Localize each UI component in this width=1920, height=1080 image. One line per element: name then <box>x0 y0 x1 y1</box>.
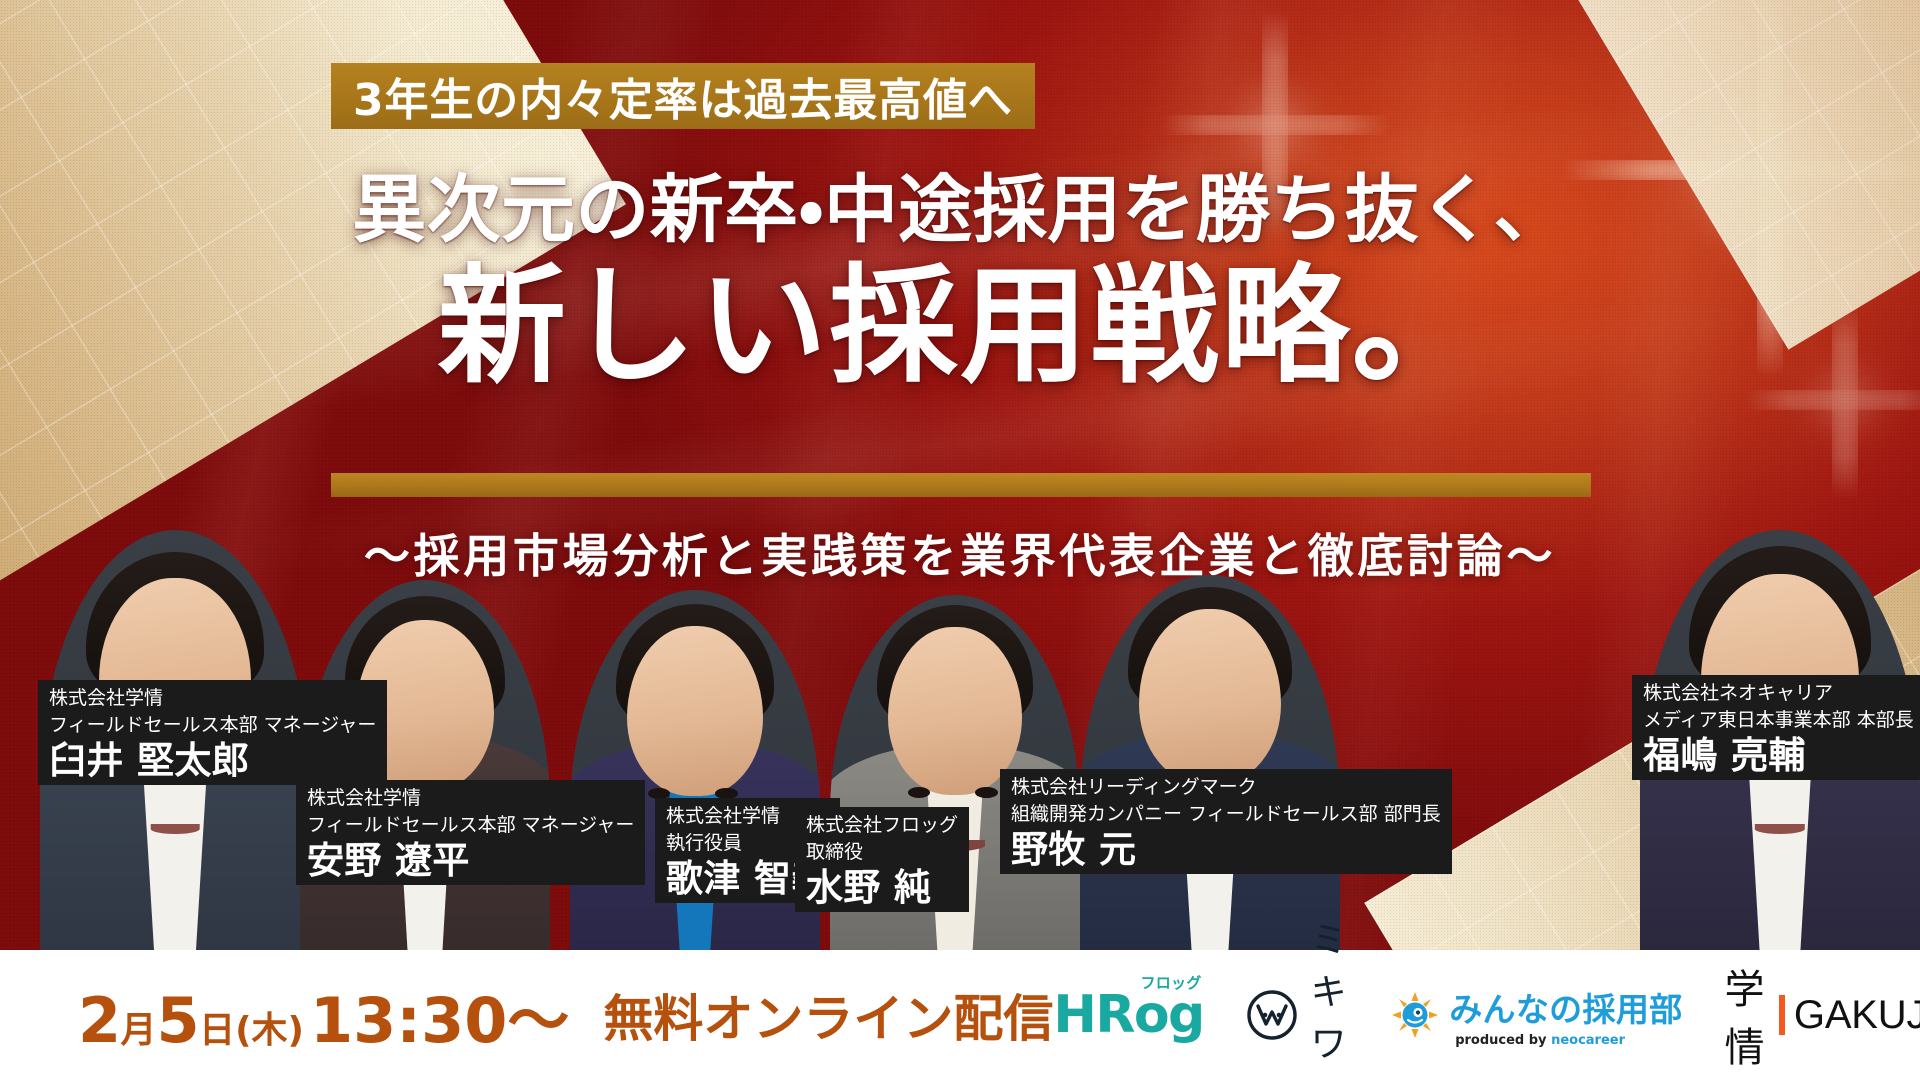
logo-gakujo-jp: 学情 <box>1725 957 1770 1073</box>
logo-mikiwame: ミキワメ <box>1246 911 1350 1080</box>
event-datetime: 2 月 5 日 (木) 13:30〜 <box>78 970 569 1060</box>
speaker-company: 株式会社ネオキャリア <box>1643 680 1914 707</box>
logo-gakujo-bar <box>1779 995 1785 1035</box>
speaker-name: 水野 純 <box>806 867 958 910</box>
logo-mikiwame-word: ミキワメ <box>1311 911 1350 1080</box>
speaker-name: 福嶋 亮輔 <box>1643 735 1914 778</box>
logo-minna-byline: produced by neocareer <box>1455 1033 1625 1048</box>
speaker-card: 株式会社ネオキャリア メディア東日本事業本部 本部長 福嶋 亮輔 <box>1640 530 1920 950</box>
speaker-role: 組織開発カンパニー フィールドセールス部 部門長 <box>1011 801 1441 828</box>
logo-minna-no-saiyoubu: みんなの採用部 produced by neocareer <box>1391 983 1682 1048</box>
title-underline <box>331 473 1591 497</box>
page-title-line-1: 異次元の新卒・中途採用を勝ち抜く、 <box>0 150 1920 257</box>
event-time: 13:30〜 <box>310 970 569 1060</box>
logo-hrog: HRog フロッグ <box>1053 985 1203 1045</box>
speaker-nameplate: 株式会社リーディングマーク 組織開発カンパニー フィールドセールス部 部門長 野… <box>1000 769 1452 874</box>
delivery-label: 無料オンライン配信 <box>603 979 1053 1051</box>
speaker-nameplate: 株式会社学情 フィールドセールス本部 マネージャー 臼井 堅太郎 <box>38 680 387 785</box>
speaker-card: 株式会社学情 フィールドセールス本部 マネージャー 臼井 堅太郎 <box>40 530 310 950</box>
event-weekday: (木) <box>235 1001 304 1053</box>
speaker-company: 株式会社リーディングマーク <box>1011 774 1441 801</box>
event-day: 5 <box>157 984 200 1057</box>
page-title-line-2: 新しい採用戦略。 <box>0 255 1920 398</box>
speaker-nameplate: 株式会社ネオキャリア メディア東日本事業本部 本部長 福嶋 亮輔 <box>1632 675 1920 780</box>
speaker-company: 株式会社学情 <box>307 785 634 812</box>
sun-icon <box>1391 991 1439 1039</box>
speaker-name: 野牧 元 <box>1011 829 1441 872</box>
speaker-card: 株式会社学情 執行役員 歌津 智義 <box>570 590 820 950</box>
mikiwame-mark-icon <box>1246 989 1298 1041</box>
sponsor-logos: HRog フロッグ ミキワメ <box>1053 911 1920 1080</box>
speaker-company: 株式会社フロッグ <box>806 812 958 839</box>
speaker-company: 株式会社学情 <box>49 685 376 712</box>
webinar-banner: 3年生の内々定率は過去最高値へ 異次元の新卒・中途採用を勝ち抜く、 新しい採用戦… <box>0 0 1920 1080</box>
logo-hrog-ruby: フロッグ <box>1140 972 1201 993</box>
logo-hrog-word: HRog <box>1053 985 1203 1045</box>
footer-bar: 2 月 5 日 (木) 13:30〜 無料オンライン配信 HRog フロッグ <box>0 950 1920 1080</box>
kicker-badge: 3年生の内々定率は過去最高値へ <box>331 63 1035 129</box>
speaker-role: フィールドセールス本部 マネージャー <box>49 712 376 739</box>
speaker-name: 臼井 堅太郎 <box>49 740 376 783</box>
speaker-nameplate: 株式会社学情 フィールドセールス本部 マネージャー 安野 遼平 <box>296 780 645 885</box>
event-day-unit: 日 <box>199 1001 235 1053</box>
event-month: 2 <box>78 984 121 1057</box>
speaker-nameplate: 株式会社フロッグ 取締役 水野 純 <box>795 807 969 912</box>
logo-gakujo-en: GAKUJO <box>1794 993 1920 1038</box>
event-month-unit: 月 <box>121 1001 157 1053</box>
logo-gakujo: 学情 GAKUJO <box>1725 957 1920 1073</box>
logo-minna-word: みんなの採用部 <box>1449 983 1682 1031</box>
speaker-portrait <box>1080 575 1340 950</box>
speaker-role: フィールドセールス本部 マネージャー <box>307 812 634 839</box>
speaker-card: 株式会社リーディングマーク 組織開発カンパニー フィールドセールス部 部門長 野… <box>1080 575 1340 950</box>
speaker-name: 安野 遼平 <box>307 840 634 883</box>
speaker-role: 取締役 <box>806 839 958 866</box>
speaker-role: メディア東日本事業本部 本部長 <box>1643 707 1914 734</box>
speaker-lineup: 株式会社学情 フィールドセールス本部 マネージャー 臼井 堅太郎 株式会社学情 … <box>0 530 1920 950</box>
